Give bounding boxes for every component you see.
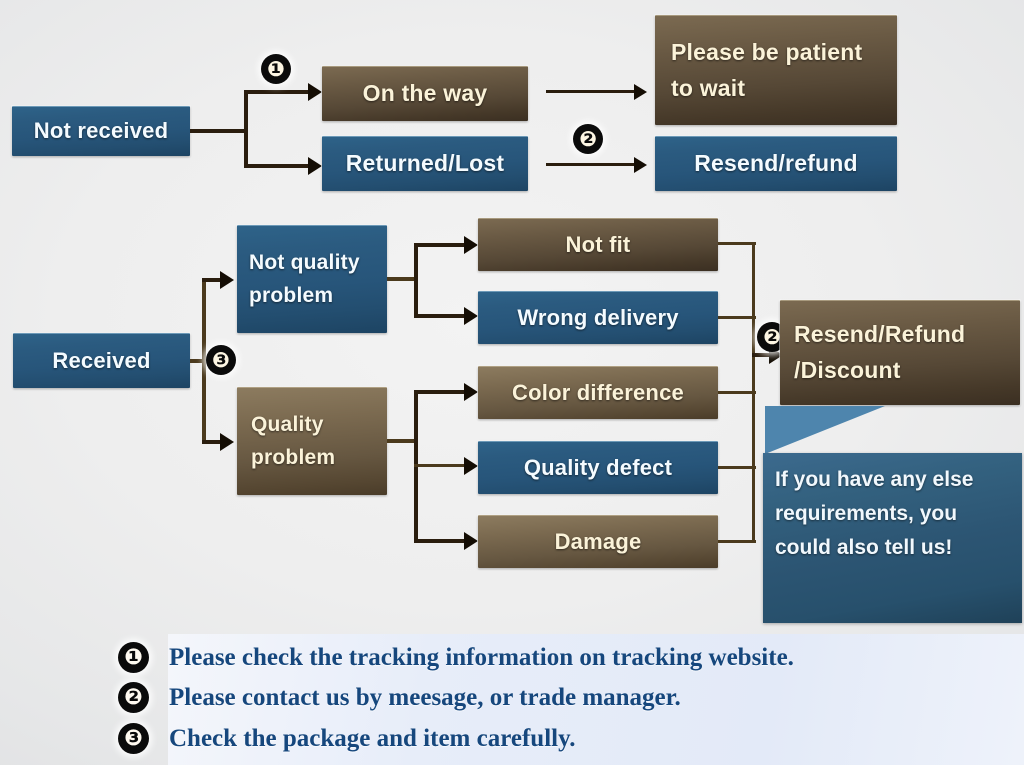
connector-on-the-way-to-wait — [546, 90, 640, 93]
legend-marker-2-icon: ❷ — [118, 682, 149, 713]
arrowhead-not-fit — [464, 236, 478, 254]
connector-not-received-split — [244, 90, 248, 168]
arrowhead-damage — [464, 532, 478, 550]
arrowhead-color-difference — [464, 383, 478, 401]
callout-line-1: If you have any else — [775, 463, 1010, 497]
node-not-fit-label: Not fit — [566, 228, 631, 262]
marker-two-top: ❷ — [573, 124, 603, 154]
flowchart-canvas: Not received ❶ On the way Returned/Lost … — [0, 0, 1024, 765]
legend-panel: ❶ Please check the tracking information … — [168, 634, 1024, 765]
legend-item-3: ❸ Check the package and item carefully. — [118, 723, 575, 754]
node-resend-refund-discount[interactable]: Resend/Refund /Discount — [780, 300, 1020, 405]
callout-line-2: requirements, you — [775, 497, 1010, 531]
connector-to-damage — [414, 539, 468, 543]
connector-returned-to-resend — [546, 163, 640, 166]
connector-to-quality-defect — [414, 464, 468, 467]
node-not-quality-problem-line1: Not quality — [249, 247, 360, 280]
node-resend-refund-discount-line2: /Discount — [794, 353, 901, 389]
connector-not-received-stem — [190, 129, 246, 133]
node-received-label: Received — [52, 344, 150, 378]
node-quality-problem[interactable]: Quality problem — [237, 387, 387, 495]
callout-box: If you have any else requirements, you c… — [763, 453, 1022, 623]
node-quality-problem-line1: Quality — [251, 409, 324, 442]
connector-not-fit-to-bus — [718, 242, 756, 245]
node-not-quality-problem[interactable]: Not quality problem — [237, 225, 387, 333]
legend-text-3: Check the package and item carefully. — [169, 725, 575, 753]
connector-wrong-delivery-to-bus — [718, 316, 756, 319]
node-on-the-way[interactable]: On the way — [322, 66, 528, 121]
arrowhead-please-wait — [634, 84, 647, 100]
node-not-quality-problem-line2: problem — [249, 280, 333, 313]
connector-quality-stem — [387, 439, 417, 443]
callout-line-3: could also tell us! — [775, 531, 1010, 565]
arrowhead-not-quality — [220, 271, 234, 289]
legend-marker-1-icon: ❶ — [118, 642, 149, 673]
callout-tail-icon — [765, 406, 885, 454]
connector-not-quality-split — [414, 243, 418, 318]
connector-to-returned-lost — [244, 164, 312, 168]
node-damage-label: Damage — [555, 525, 642, 559]
node-returned-lost[interactable]: Returned/Lost — [322, 136, 528, 191]
node-color-difference[interactable]: Color difference — [478, 366, 718, 419]
arrowhead-returned-lost — [308, 157, 322, 175]
node-please-be-patient[interactable]: Please be patient to wait — [655, 15, 897, 125]
node-resend-refund-discount-line1: Resend/Refund — [794, 317, 965, 353]
connector-collector-bus — [752, 242, 755, 543]
arrowhead-quality-defect — [464, 457, 478, 475]
connector-to-color-difference — [414, 390, 468, 394]
node-on-the-way-label: On the way — [363, 76, 488, 112]
connector-damage-to-bus — [718, 540, 756, 543]
node-returned-lost-label: Returned/Lost — [346, 146, 505, 182]
legend-item-1: ❶ Please check the tracking information … — [118, 642, 794, 673]
legend-text-1: Please check the tracking information on… — [169, 644, 794, 672]
marker-three-mid: ❸ — [206, 345, 236, 375]
node-quality-defect-label: Quality defect — [524, 451, 672, 485]
node-color-difference-label: Color difference — [512, 376, 684, 410]
node-received[interactable]: Received — [13, 333, 190, 388]
node-damage[interactable]: Damage — [478, 515, 718, 568]
node-wrong-delivery-label: Wrong delivery — [517, 301, 678, 335]
legend-marker-3-icon: ❸ — [118, 723, 149, 754]
node-wrong-delivery[interactable]: Wrong delivery — [478, 291, 718, 344]
connector-to-not-fit — [414, 243, 468, 247]
node-resend-refund[interactable]: Resend/refund — [655, 136, 897, 191]
node-not-received-label: Not received — [34, 114, 168, 148]
arrowhead-wrong-delivery — [464, 307, 478, 325]
node-not-fit[interactable]: Not fit — [478, 218, 718, 271]
node-please-be-patient-line2: to wait — [671, 71, 745, 107]
marker-one-top: ❶ — [261, 54, 291, 84]
connector-not-quality-stem — [387, 277, 417, 281]
arrowhead-on-the-way — [308, 83, 322, 101]
node-please-be-patient-line1: Please be patient — [671, 35, 862, 71]
node-resend-refund-label: Resend/refund — [694, 146, 858, 182]
connector-quality-defect-to-bus — [718, 466, 756, 469]
arrowhead-quality — [220, 433, 234, 451]
node-quality-defect[interactable]: Quality defect — [478, 441, 718, 494]
legend-item-2: ❷ Please contact us by meesage, or trade… — [118, 682, 681, 713]
connector-to-wrong-delivery — [414, 314, 468, 318]
node-quality-problem-line2: problem — [251, 442, 335, 475]
connector-to-on-the-way — [244, 90, 312, 94]
connector-color-difference-to-bus — [718, 391, 756, 394]
legend-text-2: Please contact us by meesage, or trade m… — [169, 684, 681, 712]
arrowhead-resend-refund — [634, 157, 647, 173]
node-not-received[interactable]: Not received — [12, 106, 190, 156]
